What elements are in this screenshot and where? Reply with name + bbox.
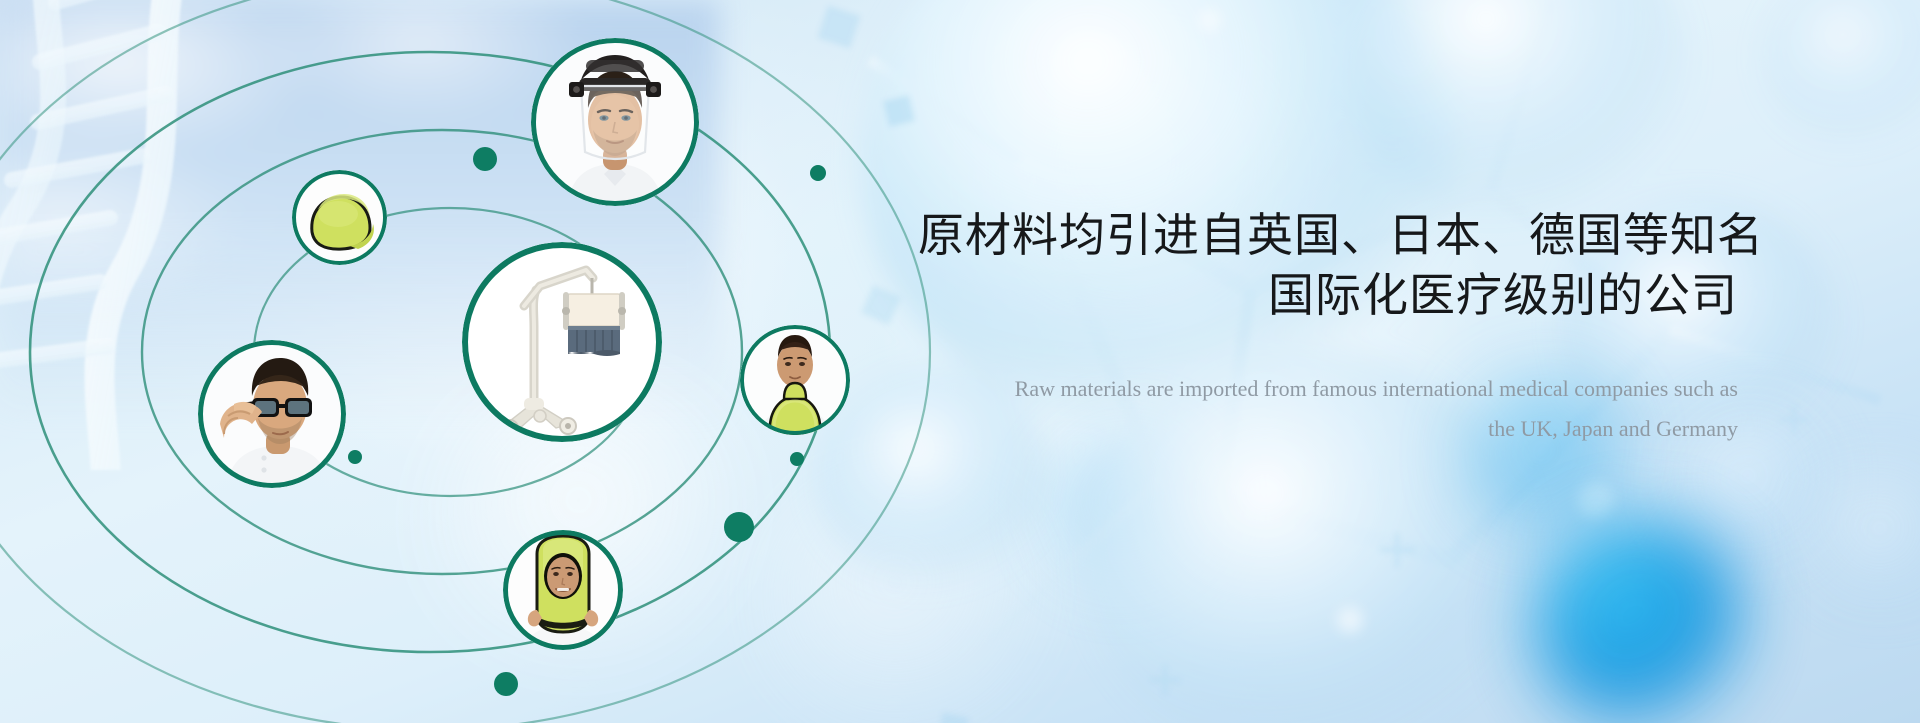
orbit-dot-1: [473, 147, 497, 171]
product-circle-face-shield-visor[interactable]: [531, 38, 699, 206]
orbit-dot-4: [790, 452, 804, 466]
orbit-dot-2: [810, 165, 826, 181]
product-circle-ring: [462, 242, 662, 442]
orbit-dot-3: [348, 450, 362, 464]
product-circle-ring: [292, 170, 387, 265]
orbit-dot-5: [724, 512, 754, 542]
headline-line-2: 国际化医疗级别的公司: [918, 265, 1738, 325]
product-circle-thyroid-collar-cap[interactable]: [292, 170, 387, 265]
product-circle-ring: [531, 38, 699, 206]
banner-hero: 原材料均引进自英国、日本、德国等知名 国际化医疗级别的公司 Raw materi…: [0, 0, 1920, 723]
product-circle-ring: [503, 530, 623, 650]
product-circle-thyroid-collar-worn[interactable]: [740, 325, 850, 435]
orbit-dot-6: [494, 672, 518, 696]
hero-copy: 原材料均引进自英国、日本、德国等知名 国际化医疗级别的公司 Raw materi…: [918, 205, 1738, 449]
product-circle-lead-glasses[interactable]: [198, 340, 346, 488]
subtitle-line-2: the UK, Japan and Germany: [918, 409, 1738, 449]
subtitle-line-1: Raw materials are imported from famous i…: [918, 369, 1738, 409]
product-circle-ring: [198, 340, 346, 488]
product-circle-mobile-radiation-barrier[interactable]: [462, 242, 662, 442]
product-circle-protective-hood[interactable]: [503, 530, 623, 650]
background-sphere-blue: [1536, 520, 1746, 723]
product-circle-ring: [740, 325, 850, 435]
headline-line-1: 原材料均引进自英国、日本、德国等知名: [918, 205, 1738, 265]
